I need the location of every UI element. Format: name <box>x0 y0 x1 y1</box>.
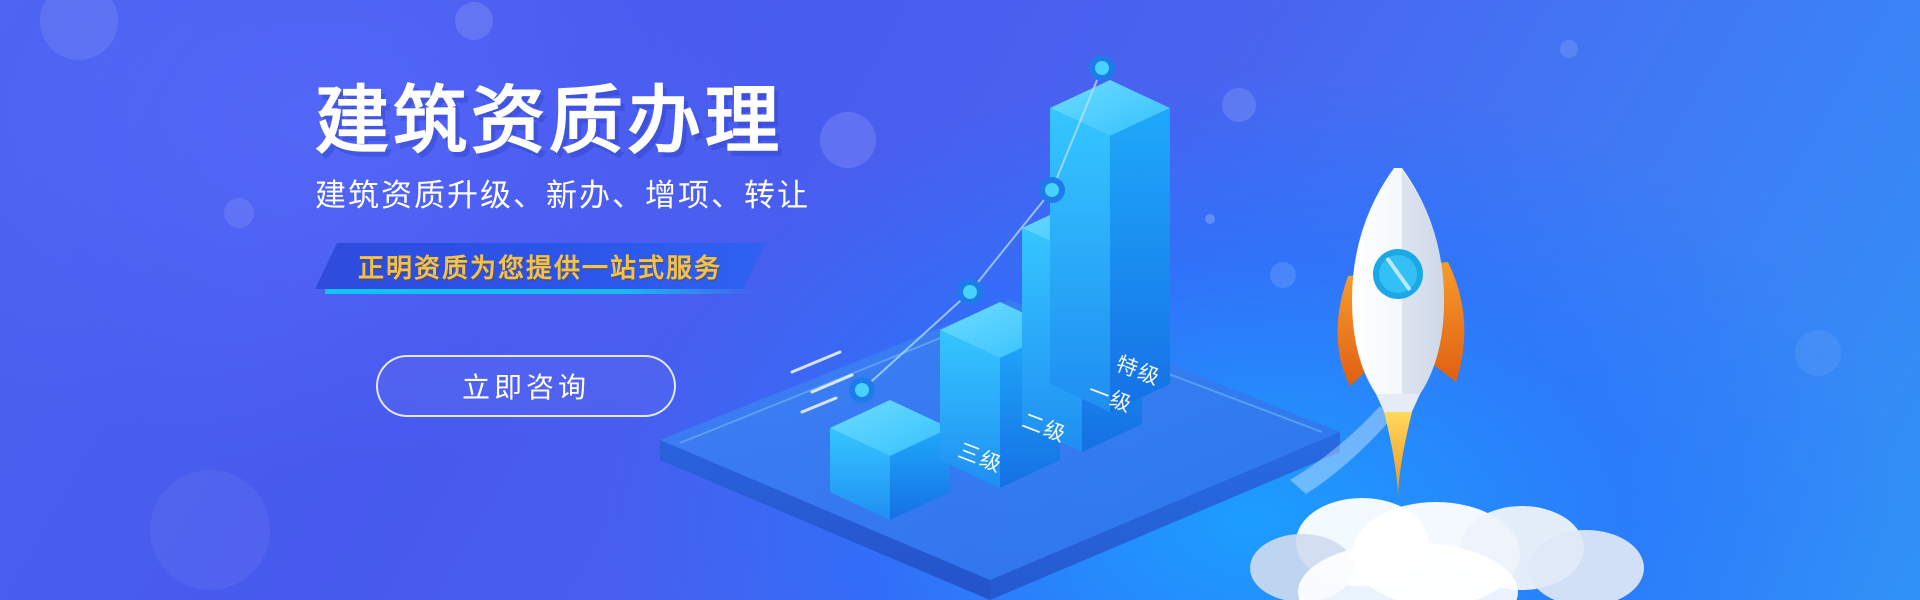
bokeh-circle-icon <box>1560 40 1578 58</box>
bokeh-circle-icon <box>1795 330 1841 376</box>
circle-node-icon <box>849 377 875 403</box>
consult-now-label: 立即咨询 <box>462 366 590 406</box>
bokeh-circle-icon <box>455 2 493 40</box>
bokeh-circle-icon <box>150 470 270 590</box>
bokeh-circle-icon <box>224 198 254 228</box>
rocket-trail <box>1290 406 1392 494</box>
circle-node-icon <box>957 279 983 305</box>
consult-now-button[interactable]: 立即咨询 <box>376 355 676 417</box>
rocket-svg <box>1230 150 1650 600</box>
cloud-icon <box>1250 498 1644 600</box>
bokeh-circle-icon <box>40 0 118 60</box>
circle-node-icon <box>1039 177 1065 203</box>
rocket-illustration <box>1230 150 1650 600</box>
promo-banner: 建筑资质办理 建筑资质升级、新办、增项、转让 正明资质为您提供一站式服务 立即咨… <box>0 0 1920 600</box>
rocket-flame-icon <box>1384 412 1412 500</box>
circle-node-icon <box>1089 55 1115 81</box>
